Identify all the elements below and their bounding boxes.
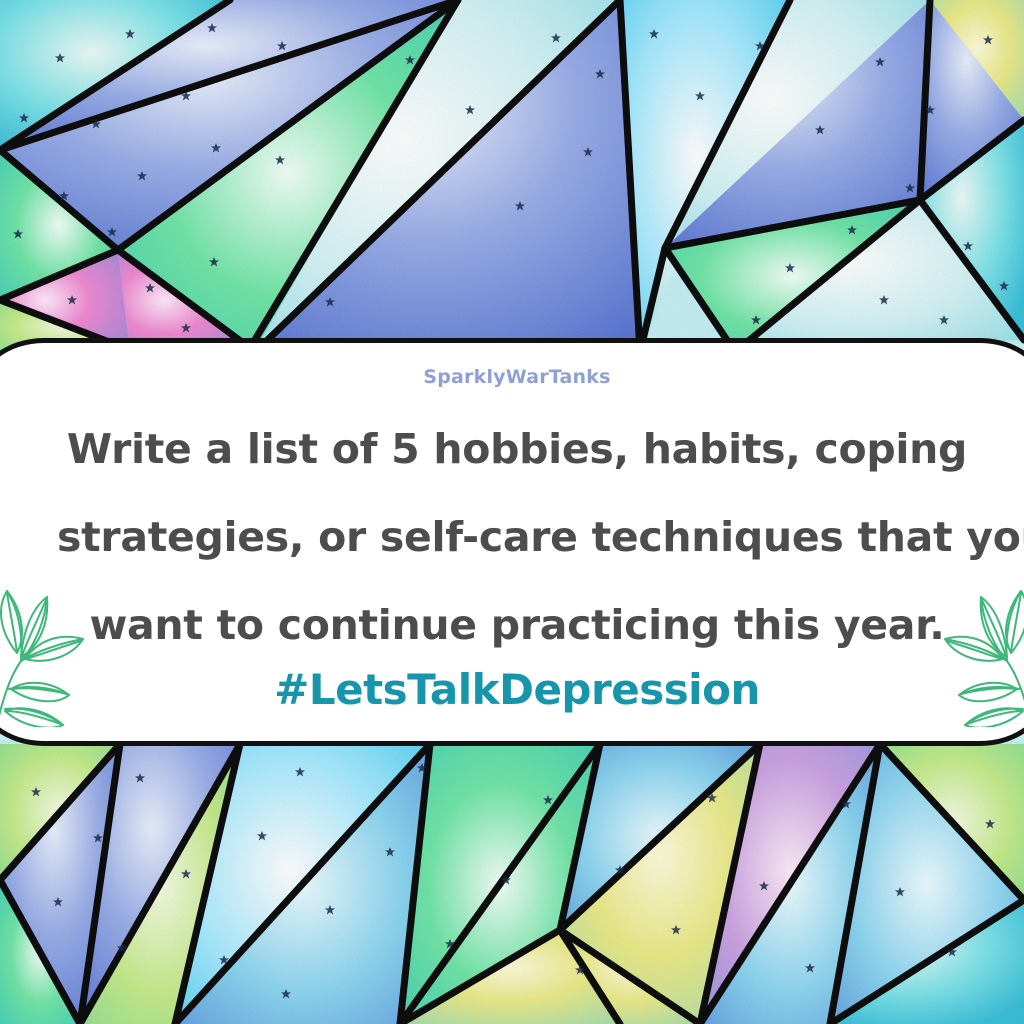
username-label: SparklyWarTanks xyxy=(5,366,1024,388)
prompt-line-3: want to continue practicing this year. xyxy=(57,581,977,669)
content-card: SparklyWarTanks Write a list of 5 hobbie… xyxy=(0,338,1024,746)
prompt-line-1: Write a list of 5 hobbies, habits, copin… xyxy=(57,405,977,493)
prompt-text: Write a list of 5 hobbies, habits, copin… xyxy=(57,405,977,669)
prompt-line-2: strategies, or self-care techniques that… xyxy=(57,493,977,581)
poster-canvas: SparklyWarTanks Write a list of 5 hobbie… xyxy=(0,0,1024,1024)
hashtag-label: #LetsTalkDepression xyxy=(5,665,1024,714)
